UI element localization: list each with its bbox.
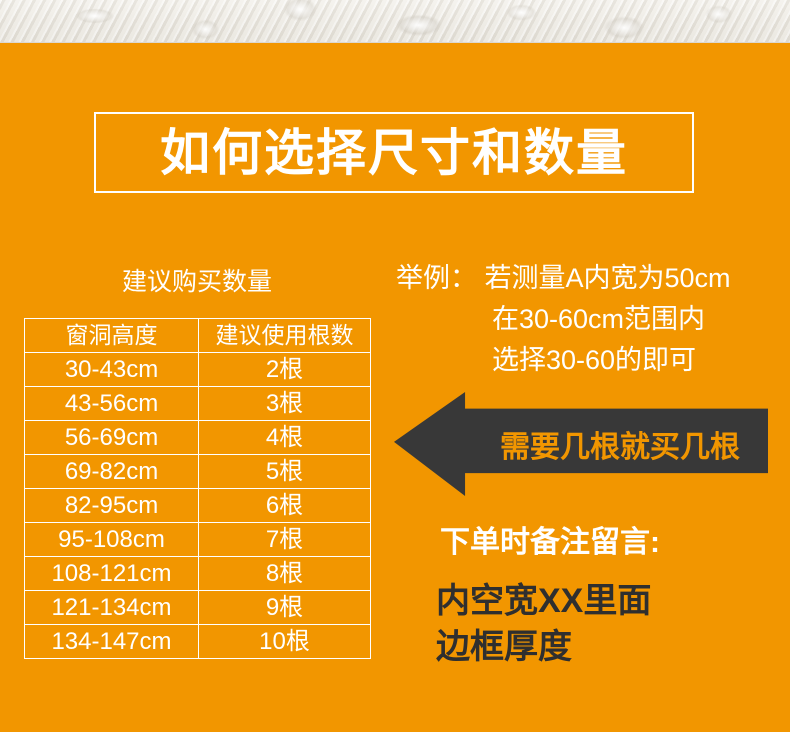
- page-title-box: 如何选择尺寸和数量: [94, 112, 694, 193]
- order-note-line-2: 边框厚度: [436, 624, 651, 670]
- table-row: 108-121cm 8根: [25, 557, 371, 591]
- cell-rod-count: 2根: [199, 353, 371, 387]
- table-caption: 建议购买数量: [24, 262, 370, 298]
- cell-window-height: 30-43cm: [25, 353, 199, 387]
- recommended-quantity-table: 窗洞高度 建议使用根数 30-43cm 2根 43-56cm 3根 56-69c…: [24, 318, 371, 659]
- arrow-banner-label: 需要几根就买几根: [472, 392, 768, 496]
- left-arrow-banner: 需要几根就买几根: [394, 392, 768, 496]
- example-text-block: 举例： 若测量A内宽为50cm 在30-60cm范围内 选择30-60的即可: [396, 258, 788, 381]
- cell-window-height: 108-121cm: [25, 557, 199, 591]
- cell-window-height: 56-69cm: [25, 421, 199, 455]
- table-row: 69-82cm 5根: [25, 455, 371, 489]
- cell-window-height: 82-95cm: [25, 489, 199, 523]
- cell-rod-count: 4根: [199, 421, 371, 455]
- order-note-body: 内空宽XX里面 边框厚度: [436, 578, 651, 670]
- column-header-window-height: 窗洞高度: [25, 319, 199, 353]
- table-row: 134-147cm 10根: [25, 625, 371, 659]
- cell-rod-count: 8根: [199, 557, 371, 591]
- example-line-2: 在30-60cm范围内: [396, 299, 788, 340]
- wall-texture-image: [0, 0, 790, 43]
- table-row: 30-43cm 2根: [25, 353, 371, 387]
- cell-rod-count: 6根: [199, 489, 371, 523]
- cell-rod-count: 9根: [199, 591, 371, 625]
- cell-rod-count: 5根: [199, 455, 371, 489]
- promo-page: 如何选择尺寸和数量 建议购买数量 窗洞高度 建议使用根数 30-43cm 2根 …: [0, 0, 790, 732]
- table-header-row: 窗洞高度 建议使用根数: [25, 319, 371, 353]
- column-header-rod-count: 建议使用根数: [199, 319, 371, 353]
- cell-rod-count: 10根: [199, 625, 371, 659]
- cell-rod-count: 7根: [199, 523, 371, 557]
- cell-window-height: 95-108cm: [25, 523, 199, 557]
- table-row: 43-56cm 3根: [25, 387, 371, 421]
- order-note-line-1: 内空宽XX里面: [436, 578, 651, 624]
- page-title: 如何选择尺寸和数量: [160, 128, 628, 178]
- table-row: 95-108cm 7根: [25, 523, 371, 557]
- cell-window-height: 69-82cm: [25, 455, 199, 489]
- table-row: 56-69cm 4根: [25, 421, 371, 455]
- example-line-3: 选择30-60的即可: [396, 340, 788, 381]
- order-note-heading: 下单时备注留言:: [440, 517, 660, 561]
- cell-rod-count: 3根: [199, 387, 371, 421]
- example-line-1: 举例： 若测量A内宽为50cm: [396, 258, 788, 299]
- cell-window-height: 134-147cm: [25, 625, 199, 659]
- table-row: 121-134cm 9根: [25, 591, 371, 625]
- cell-window-height: 43-56cm: [25, 387, 199, 421]
- cell-window-height: 121-134cm: [25, 591, 199, 625]
- table-row: 82-95cm 6根: [25, 489, 371, 523]
